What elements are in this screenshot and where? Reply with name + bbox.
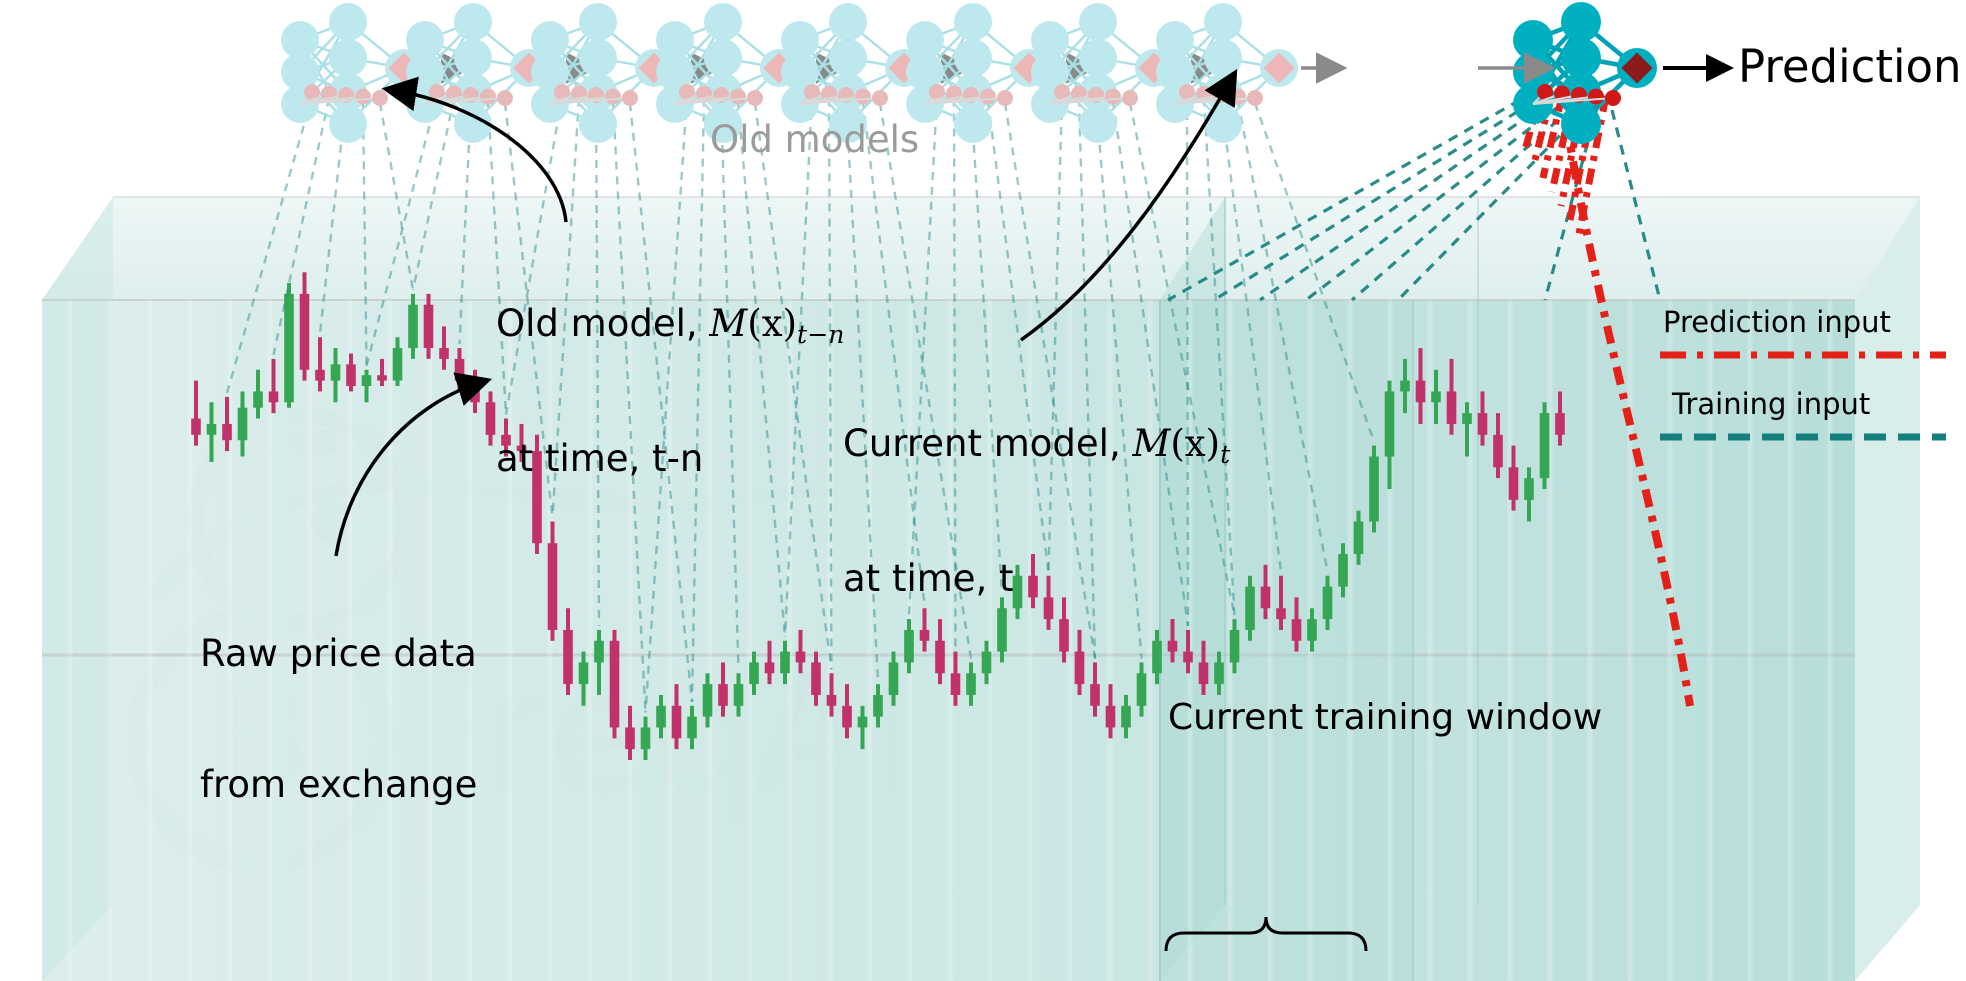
candle-body [1292,619,1302,641]
candle-body [734,684,744,706]
candle-body [1307,619,1317,641]
candle-body [191,419,201,435]
old-model-line2: at time, t-n [496,437,844,481]
current-model-math-sub: t [1220,440,1230,469]
candle-body [408,305,418,348]
candle-body [439,348,449,359]
candle-body [873,695,883,717]
input-dot [872,90,888,106]
candle-body [331,364,341,380]
figure-canvas: B FreqAI [0,0,1966,981]
candle-body [765,662,775,673]
candle-body [641,727,651,749]
network-node [1561,2,1601,42]
network-node [579,3,617,41]
candle-body [346,364,356,386]
old-models-label: Old models [710,118,919,161]
candle-body [842,706,852,728]
current-model-annotation: Current model, M(x)t at time, t [843,335,1230,688]
network-node [1204,105,1242,143]
input-dot [605,89,621,105]
candle-body [1230,630,1240,663]
network-node [954,39,992,77]
input-dot [1247,90,1263,106]
candle-body [486,402,496,435]
candle-body [377,375,387,380]
prediction-label: Prediction [1738,40,1962,93]
input-dot [997,90,1013,106]
input-dot [1605,90,1621,106]
candle-body [1478,413,1488,435]
input-dot [480,89,496,105]
current-model-math-m: M [1132,422,1170,465]
candle-body [1447,391,1457,424]
candle-body [393,348,403,381]
input-dot [497,90,513,106]
candle-body [1385,391,1395,456]
network-node [329,3,367,41]
candle-body [858,717,868,728]
input-dot [1105,89,1121,105]
input-dot [1588,89,1604,105]
candle-body [780,652,790,674]
old-model-prefix: Old model, [496,302,709,345]
candle-body [1400,381,1410,392]
candle-body [455,359,465,381]
candle-body [687,717,697,739]
input-dot [355,89,371,105]
candle-body [1323,587,1333,620]
network-node [829,39,867,77]
candle-body [1245,587,1255,630]
network-node [1561,104,1601,144]
current-model-line2: at time, t [843,557,1230,601]
candle-body [718,684,728,706]
network-node [329,39,367,77]
old-model-annotation: Old model, M(x)t−n at time, t-n [496,215,844,568]
candle-body [269,391,279,402]
candle-body [1416,381,1426,403]
current-training-window-label: Current training window [1168,697,1602,738]
candle-body [1555,413,1565,435]
candle-body [594,641,604,663]
network-node [329,105,367,143]
network-node [579,105,617,143]
candle-body [315,370,325,381]
candle-body [222,424,232,440]
input-dot [622,90,638,106]
input-dot [1230,89,1246,105]
network-node [1079,3,1117,41]
candle-body [563,630,573,684]
input-dot [1122,90,1138,106]
input-dot [980,89,996,105]
candle-body [1369,456,1379,521]
candle-body [703,684,713,717]
candle-body [424,305,434,348]
raw-price-line1: Raw price data [200,632,477,676]
network-node [1204,39,1242,77]
candle-body [1354,522,1364,555]
network-node [454,39,492,77]
candle-body [1540,413,1550,478]
network-node [1079,39,1117,77]
candle-body [207,424,217,435]
candle-body [672,706,682,739]
candle-body [1121,706,1131,728]
candle-body [1524,478,1534,500]
raw-price-annotation: Raw price data from exchange [200,545,477,894]
candle-body [1493,435,1503,468]
candle-body [284,294,294,402]
network-node [1079,105,1117,143]
input-dot [372,90,388,106]
candle-body [827,695,837,706]
old-model-math-m: M [709,302,747,345]
candle-body [253,391,263,407]
current-model-math-x: (x) [1170,422,1220,465]
candle-body [1431,391,1441,402]
candle-body [749,662,759,684]
raw-price-line2: from exchange [200,763,477,807]
candle-body [579,662,589,684]
candle-body [300,294,310,370]
candle-body [362,375,372,386]
network-node [704,3,742,41]
candle-body [1276,608,1286,619]
input-dot [747,90,763,106]
legend-label-prediction-input: Prediction input [1663,305,1891,339]
candle-body [811,662,821,695]
candle-body [656,706,666,728]
network-node [704,39,742,77]
current-model-prefix: Current model, [843,422,1132,465]
candle-body [238,408,248,441]
candle-body [796,652,806,663]
network-node [1204,3,1242,41]
candle-body [610,641,620,728]
network-node [829,3,867,41]
legend-label-training-input: Training input [1672,387,1870,421]
old-model-math-x: (x) [747,302,797,345]
candle-body [625,727,635,749]
network-node [954,3,992,41]
old-model-math-sub: t−n [797,320,844,349]
candle-body [1261,587,1271,609]
candle-body [1462,413,1472,424]
network-node [954,105,992,143]
candle-body [1509,467,1519,500]
candle-body [1106,706,1116,728]
input-dot [730,89,746,105]
input-dot [855,89,871,105]
candle-body [1338,554,1348,587]
network-node [579,39,617,77]
network-node [454,3,492,41]
